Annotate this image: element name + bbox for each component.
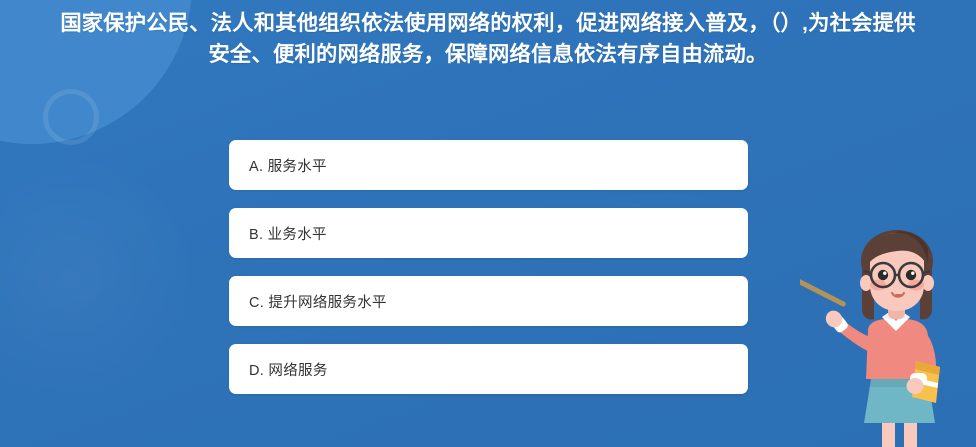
question-line-1: 国家保护公民、法人和其他组织依法使用网络的权利，促进网络接入普及，（）,为社会提… xyxy=(6,8,970,39)
question-text: 国家保护公民、法人和其他组织依法使用网络的权利，促进网络接入普及，（）,为社会提… xyxy=(0,8,976,70)
option-b-label: B. 业务水平 xyxy=(229,223,327,244)
teacher-with-pointer-illustration xyxy=(800,227,976,447)
option-a-label: A. 服务水平 xyxy=(229,155,327,176)
option-d-card[interactable]: D. 网络服务 xyxy=(229,344,748,394)
option-c-card[interactable]: C. 提升网络服务水平 xyxy=(229,276,748,326)
quiz-screen: 国家保护公民、法人和其他组织依法使用网络的权利，促进网络接入普及，（）,为社会提… xyxy=(0,0,976,447)
circle-ring-decoration-icon xyxy=(43,89,99,145)
options-list: A. 服务水平 B. 业务水平 C. 提升网络服务水平 D. 网络服务 xyxy=(229,140,748,394)
option-d-label: D. 网络服务 xyxy=(229,359,328,380)
question-line-2: 安全、便利的网络服务，保障网络信息依法有序自由流动。 xyxy=(6,39,970,70)
option-a-card[interactable]: A. 服务水平 xyxy=(229,140,748,190)
option-b-card[interactable]: B. 业务水平 xyxy=(229,208,748,258)
soft-glow-decoration-icon xyxy=(0,150,200,410)
option-c-label: C. 提升网络服务水平 xyxy=(229,291,387,312)
